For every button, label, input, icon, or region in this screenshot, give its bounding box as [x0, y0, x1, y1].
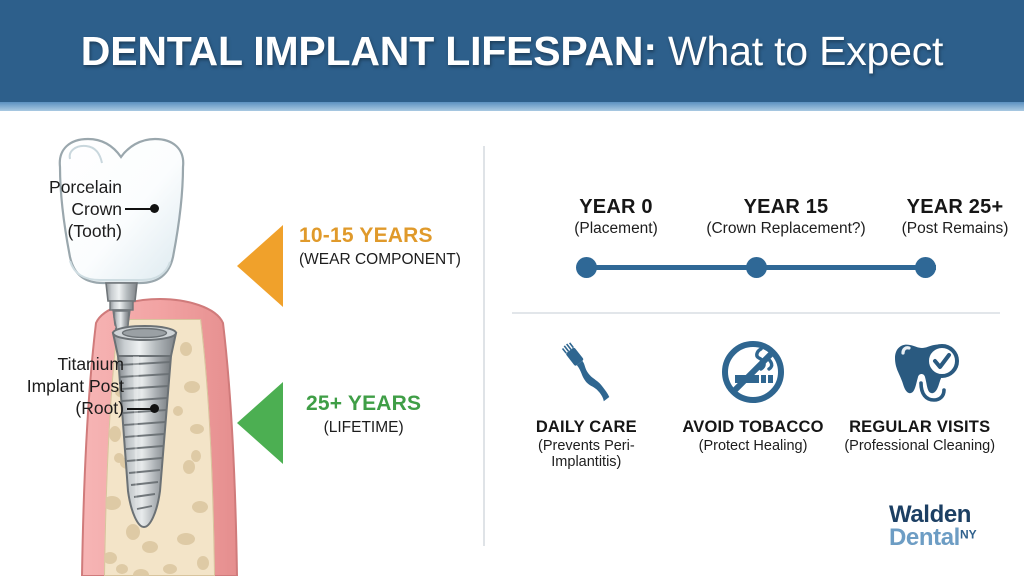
infographic-page: DENTAL IMPLANT LIFESPAN: What to Expect: [0, 0, 1024, 576]
timeline-milestone-0: YEAR 0 (Placement): [521, 196, 711, 238]
post-label: Titanium Implant Post (Root): [8, 353, 124, 419]
post-label-line3: (Root): [8, 397, 124, 419]
timeline-dot-0: [576, 257, 597, 278]
crown-label-line1: Porcelain: [14, 176, 122, 198]
logo-superscript: NY: [960, 528, 977, 542]
crown-lifespan-annotation: 10-15 YEARS (WEAR COMPONENT): [299, 224, 461, 269]
timeline-milestone-0-title: YEAR 0: [521, 196, 711, 219]
page-title-light: What to Expect: [668, 28, 943, 74]
care-tip-0-sub: (Prevents Peri-Implantitis): [503, 438, 670, 470]
post-label-line1: Titanium: [8, 353, 124, 375]
post-lifespan-years: 25+ YEARS: [306, 392, 421, 416]
care-tip-2-title: REGULAR VISITS: [836, 418, 1003, 437]
care-tip-1-sub: (Protect Healing): [670, 438, 837, 454]
timeline-milestone-2-sub: (Post Remains): [860, 220, 1024, 238]
care-tip-2-sub: (Professional Cleaning): [836, 438, 1003, 454]
timeline-milestone-2: YEAR 25+ (Post Remains): [860, 196, 1024, 238]
brand-logo: Walden DentalNY: [889, 503, 1009, 549]
implant-diagram-panel: Porcelain Crown (Tooth) Titanium Implant…: [0, 111, 483, 576]
tooth-check-icon: [836, 333, 1003, 411]
page-title: DENTAL IMPLANT LIFESPAN: What to Expect: [81, 28, 943, 75]
crown-label-line2: Crown: [14, 198, 122, 220]
toothbrush-icon: [503, 333, 670, 411]
header-accent-strip: [0, 102, 1024, 111]
timeline-milestone-0-sub: (Placement): [521, 220, 711, 238]
care-tip-1-title: AVOID TOBACCO: [670, 418, 837, 437]
crown-label-line3: (Tooth): [14, 220, 122, 242]
crown-lifespan-sub: (WEAR COMPONENT): [299, 251, 461, 269]
post-lifespan-sub: (LIFETIME): [306, 419, 421, 437]
timeline-milestone-1-sub: (Crown Replacement?): [691, 220, 881, 238]
post-lifespan-annotation: 25+ YEARS (LIFETIME): [306, 392, 421, 437]
no-smoking-icon: [670, 333, 837, 411]
post-label-line2: Implant Post: [8, 375, 124, 397]
post-leader-dot: [150, 404, 159, 413]
page-title-bold: DENTAL IMPLANT LIFESPAN:: [81, 28, 657, 74]
post-lifespan-arrow: [237, 382, 283, 464]
timeline-dot-2: [915, 257, 936, 278]
timeline-milestone-1-title: YEAR 15: [691, 196, 881, 219]
care-tips-row: DAILY CARE (Prevents Peri-Implantitis): [503, 333, 1003, 470]
care-tip-daily-care: DAILY CARE (Prevents Peri-Implantitis): [503, 333, 670, 470]
crown-label: Porcelain Crown (Tooth): [14, 176, 122, 242]
crown-lifespan-arrow: [237, 225, 283, 307]
care-tip-regular-visits: REGULAR VISITS (Professional Cleaning): [836, 333, 1003, 470]
timeline-dot-1: [746, 257, 767, 278]
timeline-milestone-2-title: YEAR 25+: [860, 196, 1024, 219]
crown-lifespan-years: 10-15 YEARS: [299, 224, 461, 248]
header-bar: DENTAL IMPLANT LIFESPAN: What to Expect: [0, 0, 1024, 102]
logo-line2: Dental: [889, 524, 960, 551]
care-tip-avoid-tobacco: AVOID TOBACCO (Protect Healing): [670, 333, 837, 470]
crown-leader-dot: [150, 204, 159, 213]
timeline-milestone-1: YEAR 15 (Crown Replacement?): [691, 196, 881, 238]
logo-line1: Walden: [889, 503, 1009, 526]
care-tip-0-title: DAILY CARE: [503, 418, 670, 437]
